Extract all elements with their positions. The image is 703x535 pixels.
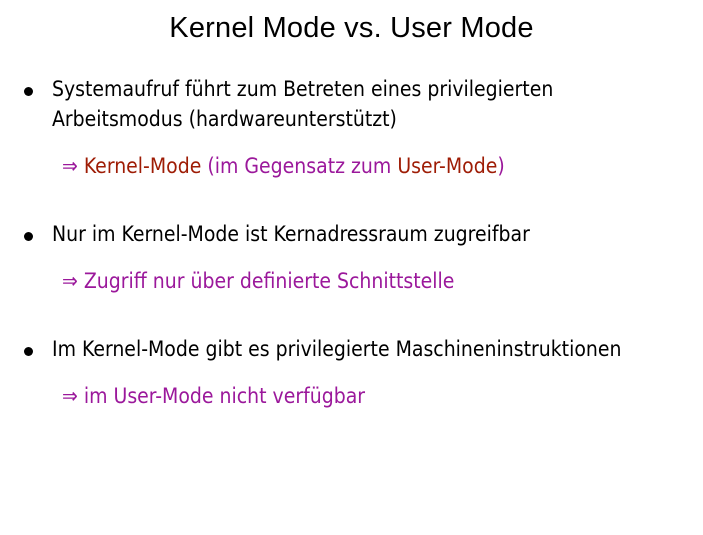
bullet-group-1: Systemaufruf führt zum Betreten eines pr…: [0, 74, 703, 219]
bullet-group-2: Nur im Kernel-Mode ist Kernadressraum zu…: [0, 219, 703, 334]
spacer: [0, 249, 703, 266]
consequence-3-segment-1: im User-Mode nicht verfügbar: [84, 384, 365, 408]
consequence-1-segment-1: Kernel-Mode: [84, 154, 202, 178]
spacer: [0, 134, 703, 151]
bullet-item-2: Nur im Kernel-Mode ist Kernadressraum zu…: [0, 219, 703, 249]
slide-body: Systemaufruf führt zum Betreten eines pr…: [0, 74, 703, 411]
page-title: Kernel Mode vs. User Mode: [0, 8, 703, 48]
spacer: [0, 364, 703, 381]
double-arrow-right-icon: ⇒: [62, 381, 78, 411]
spacer: [0, 296, 703, 334]
bullet-item-2-text: Nur im Kernel-Mode ist Kernadressraum zu…: [52, 219, 677, 249]
bullet-item-3-text: Im Kernel-Mode gibt es privilegierte Mas…: [52, 334, 677, 364]
slide: Kernel Mode vs. User Mode Systemaufruf f…: [0, 0, 703, 535]
bullet-item-3: Im Kernel-Mode gibt es privilegierte Mas…: [0, 334, 703, 364]
consequence-1-segment-3: User-Mode: [397, 154, 497, 178]
bullet-item-1-text: Systemaufruf führt zum Betreten eines pr…: [52, 74, 677, 134]
bullet-dot-icon: [24, 87, 33, 96]
consequence-1-segment-2: (im Gegensatz zum: [201, 154, 397, 178]
consequence-2-segment-1: Zugriff nur über definierte Schnittstell…: [84, 269, 455, 293]
consequence-1-segment-4: ): [497, 154, 504, 178]
bullet-dot-icon: [24, 347, 33, 356]
spacer: [0, 181, 703, 219]
double-arrow-right-icon: ⇒: [62, 266, 78, 296]
double-arrow-right-icon: ⇒: [62, 151, 78, 181]
bullet-dot-icon: [24, 232, 33, 241]
bullet-group-3: Im Kernel-Mode gibt es privilegierte Mas…: [0, 334, 703, 411]
consequence-line-1: ⇒Kernel-Mode (im Gegensatz zum User-Mode…: [0, 151, 703, 181]
bullet-item-1: Systemaufruf führt zum Betreten eines pr…: [0, 74, 703, 134]
consequence-line-3: ⇒im User-Mode nicht verfügbar: [0, 381, 703, 411]
consequence-line-2: ⇒Zugriff nur über definierte Schnittstel…: [0, 266, 703, 296]
